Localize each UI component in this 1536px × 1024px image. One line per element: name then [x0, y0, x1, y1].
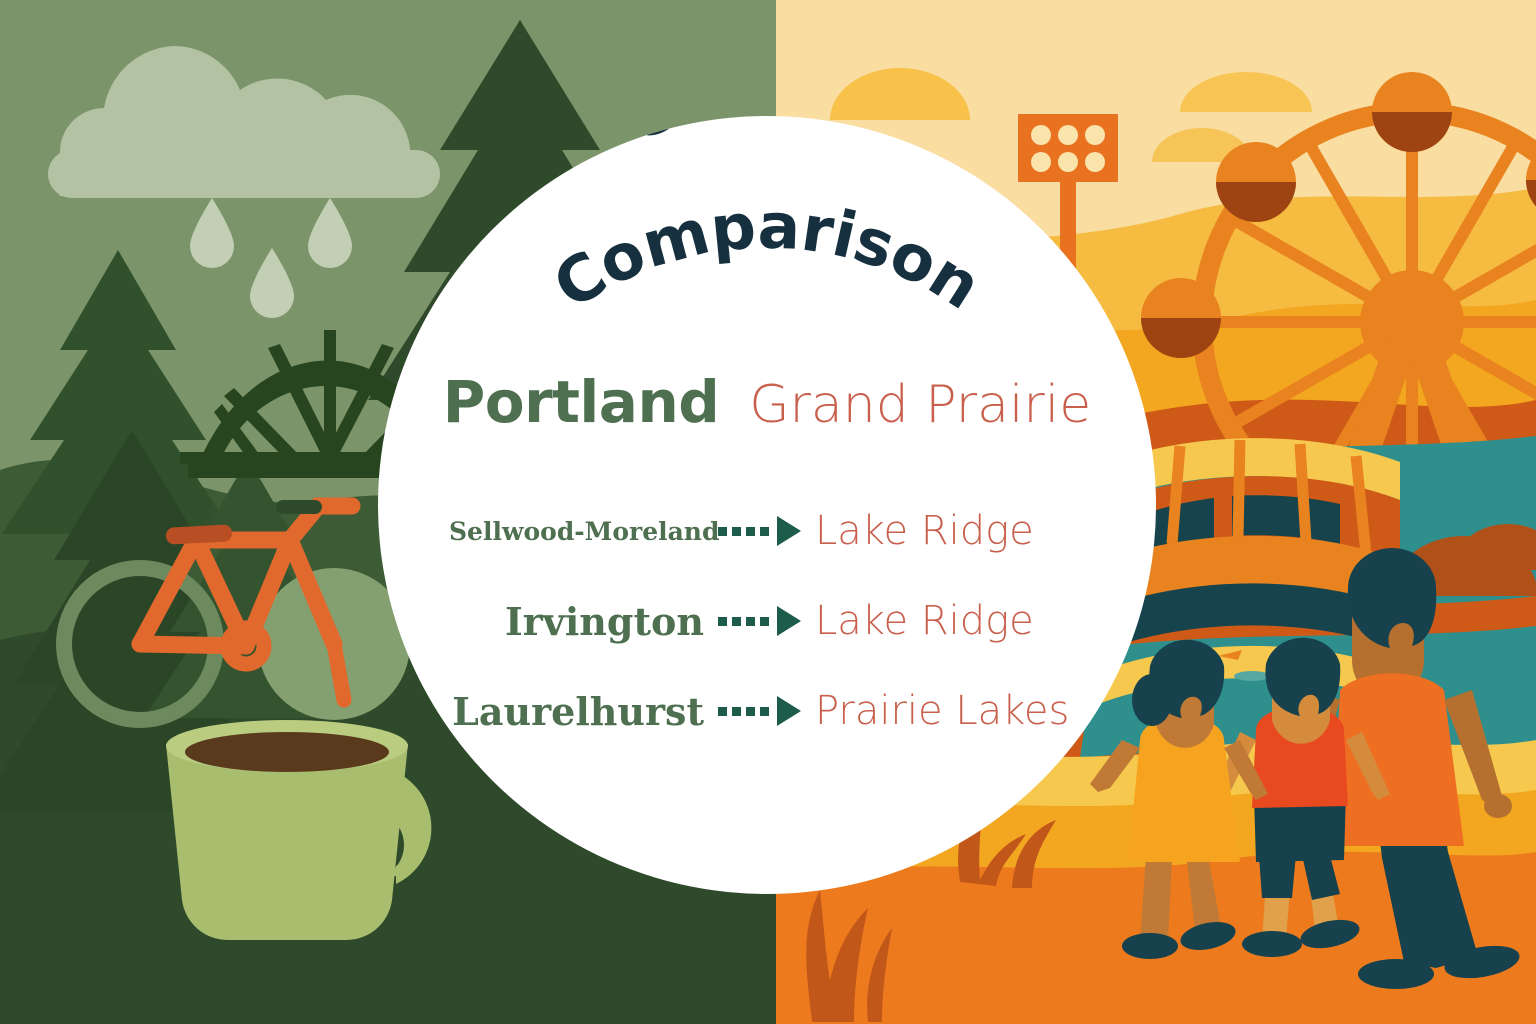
arrow-dash: [718, 527, 727, 536]
mapping-row: Sellwood-Moreland Lake Ridge: [378, 486, 1156, 576]
arrow-dash: [732, 527, 741, 536]
arrow-dash: [732, 617, 741, 626]
dashed-arrow-right-icon: [718, 696, 801, 726]
arrow-head: [777, 696, 801, 726]
dashed-arrow-right-icon: [718, 516, 801, 546]
target-neighborhood: Lake Ridge: [801, 598, 1085, 644]
source-neighborhood: Laurelhurst: [449, 689, 718, 734]
arrow-dash: [746, 617, 755, 626]
city-right-label: Grand Prairie: [749, 375, 1091, 435]
dashed-arrow-right-icon: [718, 606, 801, 636]
arrow-dash: [746, 527, 755, 536]
mapping-row: Laurelhurst Prairie Lakes: [378, 666, 1156, 756]
mapping-row: Irvington Lake Ridge: [378, 576, 1156, 666]
city-left-label: Portland: [443, 368, 720, 436]
poster-canvas: Neighborhood Comparison Portland Grand P…: [0, 0, 1536, 1024]
source-neighborhood: Irvington: [449, 599, 718, 644]
arrow-dash: [746, 707, 755, 716]
comparison-card: Neighborhood Comparison Portland Grand P…: [378, 116, 1156, 894]
arrow-dash: [718, 707, 727, 716]
arrow-head: [777, 516, 801, 546]
target-neighborhood: Lake Ridge: [801, 508, 1085, 554]
title-line-2: Comparison: [541, 189, 993, 323]
neighborhood-mapping-list: Sellwood-Moreland Lake Ridge Irvington: [378, 486, 1156, 756]
arrow-dash: [732, 707, 741, 716]
water-ripple-icon: [1234, 671, 1270, 681]
arrow-dash: [760, 527, 769, 536]
arrow-dash: [718, 617, 727, 626]
target-neighborhood: Prairie Lakes: [801, 688, 1085, 734]
arrow-dash: [760, 617, 769, 626]
arrow-dash: [760, 707, 769, 716]
arrow-head: [777, 606, 801, 636]
city-headers: Portland Grand Prairie: [378, 368, 1156, 436]
source-neighborhood: Sellwood-Moreland: [449, 517, 718, 546]
